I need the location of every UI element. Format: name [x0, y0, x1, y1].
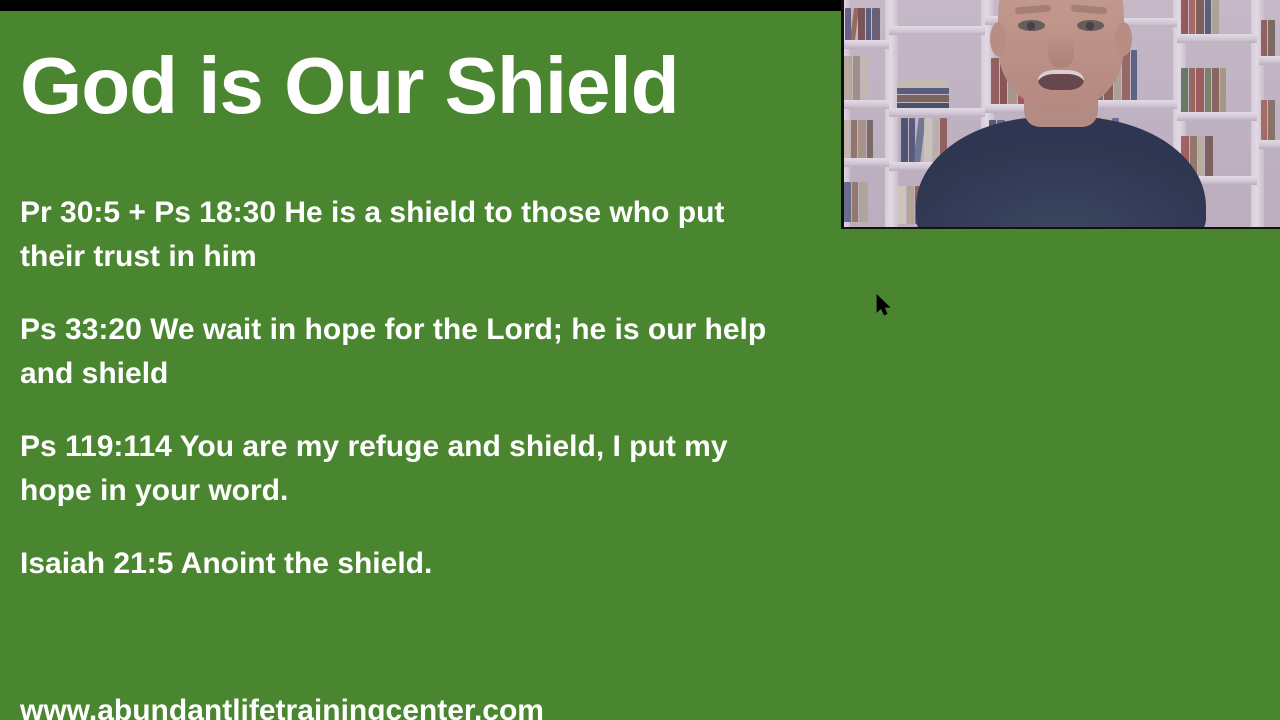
presenter-torso [916, 117, 1206, 229]
presenter-video-panel[interactable] [841, 0, 1280, 229]
presenter-ear-right [1115, 22, 1132, 56]
presenter-ear-left [990, 22, 1007, 56]
slide-content: God is Our Shield Pr 30:5 + Ps 18:30 He … [0, 11, 841, 720]
verse-list: Pr 30:5 + Ps 18:30 He is a shield to tho… [20, 191, 795, 615]
shelf-board [1259, 56, 1280, 65]
verse-item: Pr 30:5 + Ps 18:30 He is a shield to tho… [20, 191, 795, 279]
verse-item: Ps 33:20 We wait in hope for the Lord; h… [20, 308, 795, 396]
book-row [845, 8, 885, 40]
presenter-eyebrow-left [1014, 4, 1050, 14]
footer-website-url: www.abundantlifetrainingcenter.com [20, 694, 544, 720]
shelf-board [841, 40, 889, 49]
verse-item: Ps 119:114 You are my refuge and shield,… [20, 425, 795, 513]
shelf-board [841, 100, 889, 109]
presenter-nose [1048, 36, 1074, 68]
book-row [843, 56, 885, 100]
shelf-board [841, 158, 889, 167]
presentation-screen: God is Our Shield Pr 30:5 + Ps 18:30 He … [0, 0, 1280, 720]
book-row [843, 182, 887, 222]
verse-item: Isaiah 21:5 Anoint the shield. [20, 542, 795, 586]
book-row [1261, 100, 1280, 140]
presenter-figure [911, 0, 1211, 227]
presenter-mouth [1038, 70, 1084, 90]
arrow-pointer-icon [876, 294, 892, 318]
presenter-eye-right [1077, 20, 1104, 31]
shelf-board [1259, 140, 1280, 149]
video-panel-left-border [841, 0, 844, 227]
presenter-eyebrow-right [1070, 4, 1106, 14]
page-title: God is Our Shield [20, 46, 820, 126]
mouse-cursor [876, 294, 892, 318]
letterbox-bar-top [0, 0, 841, 11]
book-row [843, 120, 887, 158]
presenter-head [998, 0, 1124, 109]
presenter-eye-left [1018, 20, 1045, 31]
book-row [1261, 20, 1280, 56]
